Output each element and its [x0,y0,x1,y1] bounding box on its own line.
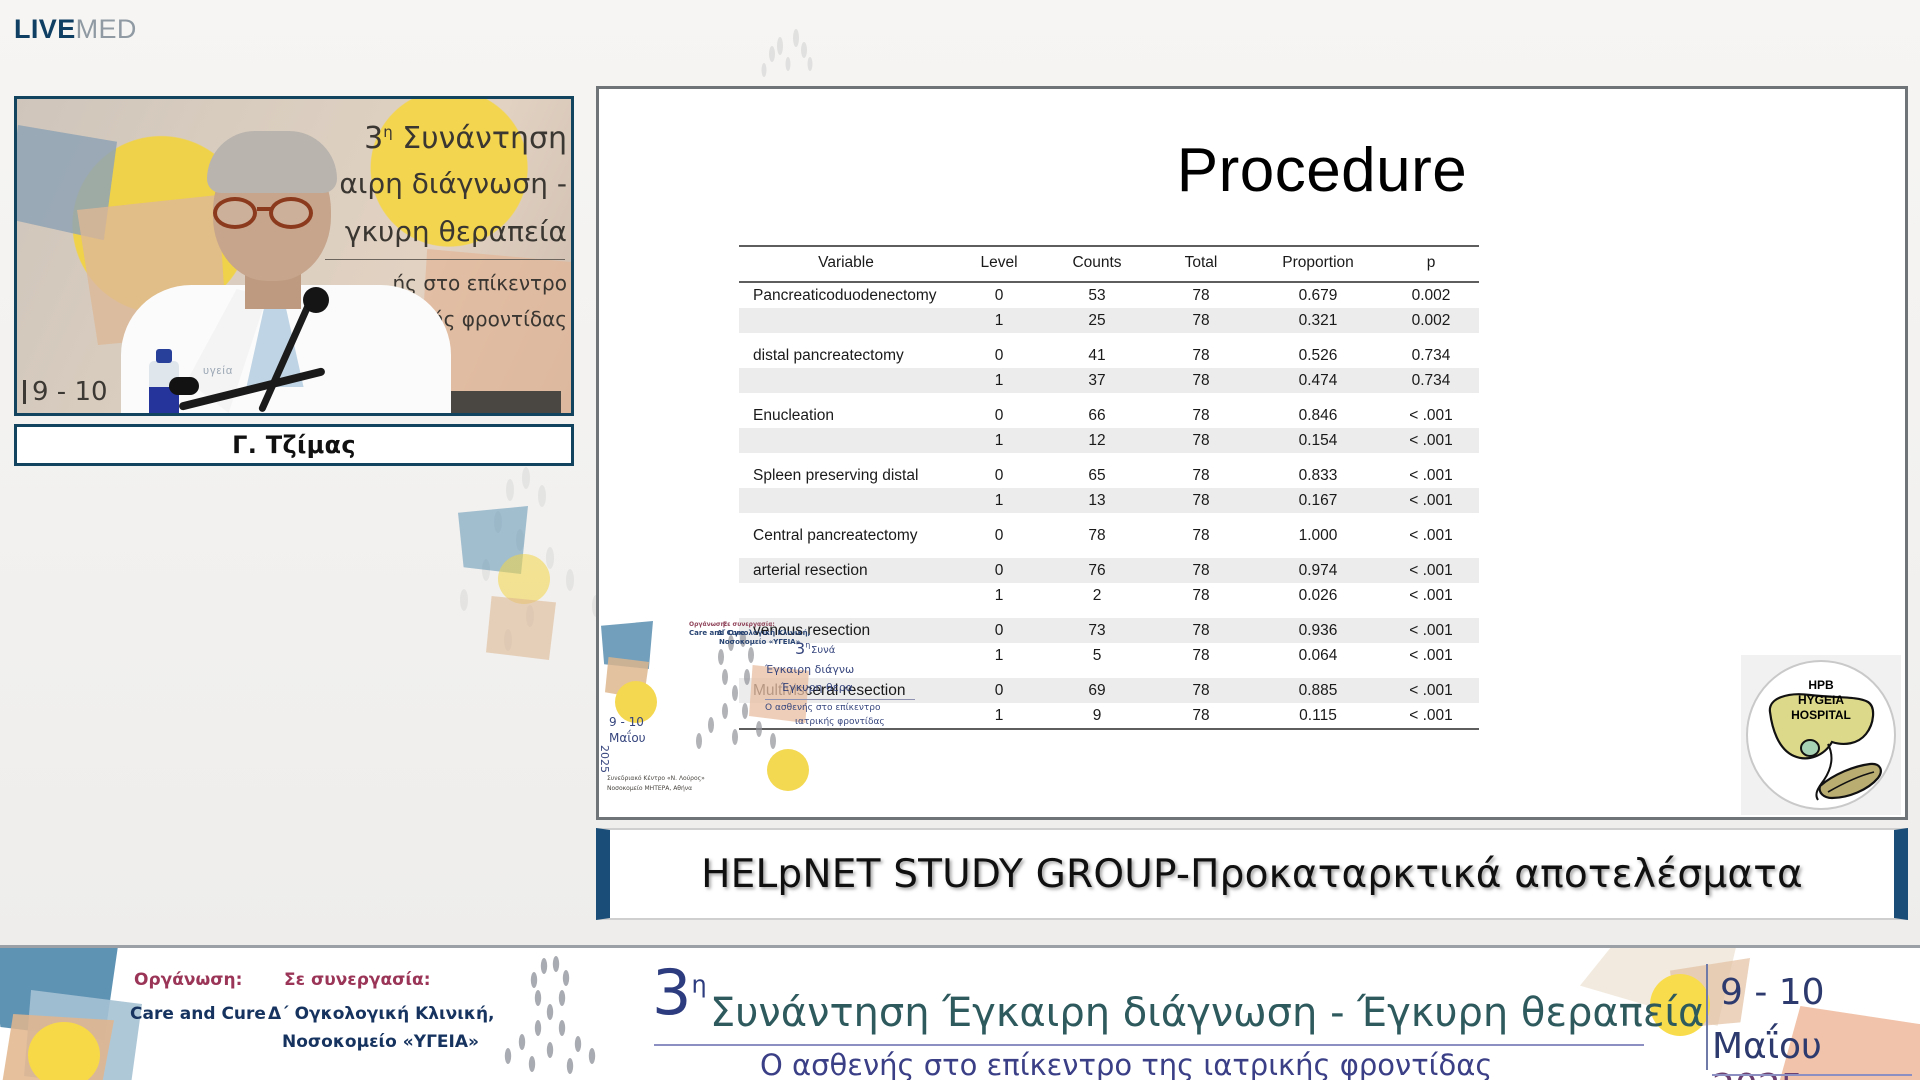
wm-ribbon-icon [681,625,799,775]
speaker-glasses-right [269,197,313,229]
table-row: Spleen preserving distal065780.833< .001 [739,463,1479,488]
table-cell-level: 0 [953,403,1045,428]
table-cell-counts: 2 [1045,583,1149,608]
banner-org-label: Οργάνωση: [134,970,242,990]
table-cell-proportion: 0.474 [1253,368,1383,393]
speaker-glasses-bridge [257,207,271,211]
table-cell-proportion: 0.936 [1253,618,1383,643]
table-cell-proportion: 0.833 [1253,463,1383,488]
table-cell-variable: arterial resection [739,558,953,583]
table-cell-total: 78 [1149,343,1253,368]
table-cell-proportion: 0.321 [1253,308,1383,333]
coat-logo: υγεία [203,365,233,377]
banner-title: Συνάντηση Έγκαιρη διάγνωση - Έγκυρη θερα… [710,990,1704,1036]
slide-title: Procedure [599,135,1905,206]
table-cell-p: < .001 [1383,558,1479,583]
table-cell-p: < .001 [1383,678,1479,703]
table-cell-p: < .001 [1383,523,1479,548]
banner-date-underline [1712,1074,1912,1076]
wm-date2: Μαΐου [609,731,646,745]
wm-sub2: ιατρικής φροντίδας [795,717,885,727]
table-cell-total: 78 [1149,523,1253,548]
col-header-p: p [1383,246,1479,282]
table-header-row: Variable Level Counts Total Proportion p [739,246,1479,282]
col-header-proportion: Proportion [1253,246,1383,282]
table-cell-counts: 66 [1045,403,1149,428]
livemed-logo: LIVEMED [14,14,137,45]
table-row: Pancreaticoduodenectomy053780.6790.002 [739,282,1479,308]
wm-org-label: Οργάνωση: [689,621,727,628]
table-cell-proportion: 0.679 [1253,282,1383,308]
table-cell-counts: 37 [1045,368,1149,393]
wm-collab-label: Σε συνεργασία: [723,621,775,628]
banner-org-value: Care and Cure [130,1004,266,1024]
banner-ordinal: 3η [652,962,707,1024]
table-cell-p: < .001 [1383,618,1479,643]
table-row: 112780.154< .001 [739,428,1479,453]
table-cell-total: 78 [1149,428,1253,453]
hpb-logo-circle: HPB HYGEIA HOSPITAL [1746,660,1896,810]
table-cell-variable: Central pancreatectomy [739,523,953,548]
table-cell-proportion: 0.154 [1253,428,1383,453]
slide-watermark-artwork: Οργάνωση: Care and Cure Σε συνεργασία: Δ… [599,617,959,817]
banner-ribbon-icon [492,954,612,1080]
table-cell-variable: Spleen preserving distal [739,463,953,488]
banner-date-divider [1706,964,1708,1070]
table-cell-proportion: 1.000 [1253,523,1383,548]
banner-ordinal-num: 3 [652,956,691,1029]
table-cell-total: 78 [1149,488,1253,513]
table-cell-counts: 73 [1045,618,1149,643]
table-row: Enucleation066780.846< .001 [739,403,1479,428]
table-group-gap [739,513,1479,523]
table-group-gap [739,333,1479,343]
table-cell-level: 1 [953,308,1045,333]
banner-ordinal-sup: η [691,970,706,998]
table-row: 125780.3210.002 [739,308,1479,333]
table-cell-total: 78 [1149,308,1253,333]
table-cell-counts: 65 [1045,463,1149,488]
table-cell-p: 0.734 [1383,368,1479,393]
table-cell-total: 78 [1149,463,1253,488]
table-cell-proportion: 0.974 [1253,558,1383,583]
wm-ordinal-num: 3 [795,639,805,658]
backdrop-line4: ής στο επίκεντρο [393,271,567,295]
table-cell-proportion: 0.115 [1253,703,1383,729]
wm-ordinal-sup: η [805,641,810,650]
banner-dot-yellow-left [28,1022,100,1080]
table-cell-p: < .001 [1383,703,1479,729]
speaker-name-bar: Γ. Τζίμας [14,424,574,466]
table-cell-p: 0.002 [1383,282,1479,308]
col-header-level: Level [953,246,1045,282]
table-cell-variable: distal pancreatectomy [739,343,953,368]
table-cell-counts: 12 [1045,428,1149,453]
wm-line2: Έγκυρη θερα [781,681,853,694]
table-cell-variable [739,488,953,513]
water-bottle-cap [156,349,172,363]
wm-sub1: Ο ασθενής στο επίκεντρο [765,703,880,713]
table-cell-variable [739,583,953,608]
table-cell-level: 0 [953,618,1045,643]
table-cell-level: 0 [953,463,1045,488]
table-cell-proportion: 0.885 [1253,678,1383,703]
decor-yellow-dot [498,554,550,604]
brand-med: MED [76,14,137,44]
hpb-hygeia-logo: HPB HYGEIA HOSPITAL [1741,655,1901,815]
speaker-hair [207,131,337,193]
col-header-variable: Variable [739,246,953,282]
table-cell-level: 1 [953,643,1045,668]
table-cell-p: 0.002 [1383,308,1479,333]
table-cell-proportion: 0.526 [1253,343,1383,368]
presentation-slide[interactable]: Procedure Variable Level Counts Total Pr… [596,86,1908,820]
table-cell-level: 0 [953,282,1045,308]
backdrop-ordinal-sup: η [383,123,393,141]
speaker-panel: 3η Συνάντηση αιρη διάγνωση - γκυρη θεραπ… [14,96,574,466]
brand-live: LIVE [14,14,76,44]
microphone-head-2 [169,377,199,395]
backdrop-date-text: 9 - 10 [32,377,108,407]
col-header-total: Total [1149,246,1253,282]
table-cell-total: 78 [1149,643,1253,668]
banner-collab-v2: Νοσοκομείο «ΥΓΕΙΑ» [282,1032,479,1052]
table-cell-level: 1 [953,488,1045,513]
table-cell-proportion: 0.167 [1253,488,1383,513]
backdrop-line2: αιρη διάγνωση - [339,167,567,200]
table-cell-proportion: 0.064 [1253,643,1383,668]
table-row: Central pancreatectomy078781.000< .001 [739,523,1479,548]
table-row: arterial resection076780.974< .001 [739,558,1479,583]
table-cell-total: 78 [1149,678,1253,703]
table-row: 113780.167< .001 [739,488,1479,513]
table-cell-p: < .001 [1383,583,1479,608]
table-group-gap [739,393,1479,403]
table-cell-variable [739,308,953,333]
table-group-gap [739,548,1479,558]
table-cell-level: 1 [953,428,1045,453]
hpb-line2: HYGEIA [1748,693,1894,708]
table-cell-proportion: 0.846 [1253,403,1383,428]
wm-ordinal: 3η [795,639,810,658]
table-cell-counts: 9 [1045,703,1149,729]
table-cell-level: 1 [953,583,1045,608]
col-header-counts: Counts [1045,246,1149,282]
banner-divider [654,1044,1644,1046]
table-cell-variable: Enucleation [739,403,953,428]
table-cell-counts: 53 [1045,282,1149,308]
table-cell-total: 78 [1149,703,1253,729]
conference-banner: Οργάνωση: Care and Cure Σε συνεργασία: Δ… [0,945,1920,1080]
wm-collab-v2: Νοσοκομείο «ΥΓΕΙΑ» [719,638,800,646]
wm-meeting: Συνά [811,645,835,656]
table-cell-counts: 69 [1045,678,1149,703]
backdrop-line1: Συνάντηση [402,121,567,156]
table-cell-level: 0 [953,523,1045,548]
wm-divider [765,699,915,700]
table-cell-p: < .001 [1383,428,1479,453]
banner-collab-label: Σε συνεργασία: [284,970,431,990]
table-cell-p: < .001 [1383,643,1479,668]
table-cell-counts: 78 [1045,523,1149,548]
table-cell-p: < .001 [1383,488,1479,513]
banner-date-month: Μαΐου [1712,1026,1822,1067]
table-cell-counts: 76 [1045,558,1149,583]
table-row: 137780.4740.734 [739,368,1479,393]
table-cell-total: 78 [1149,403,1253,428]
banner-date-days: 9 - 10 [1720,972,1825,1013]
speaker-name: Γ. Τζίμας [232,431,356,459]
banner-collab-v1: Δ΄ Ογκολογική Κλινική, [268,1004,495,1024]
hpb-logo-text: HPB HYGEIA HOSPITAL [1748,678,1894,723]
wm-venue1: Συνεδριακό Κέντρο «Ν. Λούρος» [607,775,705,782]
banner-date-month-year: Μαΐου 2025 [1712,1026,1920,1080]
wm-line1: Έγκαιρη διάγνω [765,663,854,676]
table-cell-level: 0 [953,678,1045,703]
table-cell-level: 1 [953,703,1045,729]
table-cell-counts: 13 [1045,488,1149,513]
speaker-video[interactable]: 3η Συνάντηση αιρη διάγνωση - γκυρη θεραπ… [14,96,574,416]
backdrop-ordinal-line: 3η Συνάντηση [364,121,567,156]
slide-footer-bar: HELpNET STUDY GROUP-Προκαταρκτικά αποτελ… [596,828,1908,920]
speaker-glasses-left [213,197,257,229]
table-cell-total: 78 [1149,558,1253,583]
backdrop-divider [325,259,565,260]
backdrop-ordinal: 3 [364,121,383,156]
table-cell-level: 1 [953,368,1045,393]
wm-date1: 9 - 10 [609,715,644,729]
backdrop-line3: γκυρη θεραπεία [345,215,567,248]
banner-subtitle: Ο ασθενής στο επίκεντρο της ιατρικής φρο… [760,1048,1492,1080]
table-cell-total: 78 [1149,282,1253,308]
decor-tan-shape [486,596,556,660]
table-group-gap [739,453,1479,463]
table-cell-level: 0 [953,343,1045,368]
table-row: distal pancreatectomy041780.5260.734 [739,343,1479,368]
table-cell-variable [739,428,953,453]
hpb-line3: HOSPITAL [1748,708,1894,723]
wm-venue2: Νοσοκομείο ΜΗΤΕΡΑ, Αθήνα [607,785,692,792]
table-cell-total: 78 [1149,368,1253,393]
table-cell-variable [739,368,953,393]
table-cell-p: 0.734 [1383,343,1479,368]
microphone-head [303,287,329,313]
table-cell-counts: 5 [1045,643,1149,668]
table-cell-counts: 25 [1045,308,1149,333]
table-cell-variable: Pancreaticoduodenectomy [739,282,953,308]
slide-footer-title: HELpNET STUDY GROUP-Προκαταρκτικά αποτελ… [701,852,1803,897]
hpb-line1: HPB [1748,678,1894,693]
table-cell-proportion: 0.026 [1253,583,1383,608]
table-row: 12780.026< .001 [739,583,1479,608]
table-cell-counts: 41 [1045,343,1149,368]
table-cell-p: < .001 [1383,403,1479,428]
backdrop-date: 9 - 10 [23,377,108,407]
table-cell-level: 0 [953,558,1045,583]
table-cell-p: < .001 [1383,463,1479,488]
wm-date3: 2025 [599,745,611,773]
table-cell-total: 78 [1149,583,1253,608]
table-cell-total: 78 [1149,618,1253,643]
wm-collab-v1: Δ΄ Ογκολογική Κλινική, [717,629,810,637]
